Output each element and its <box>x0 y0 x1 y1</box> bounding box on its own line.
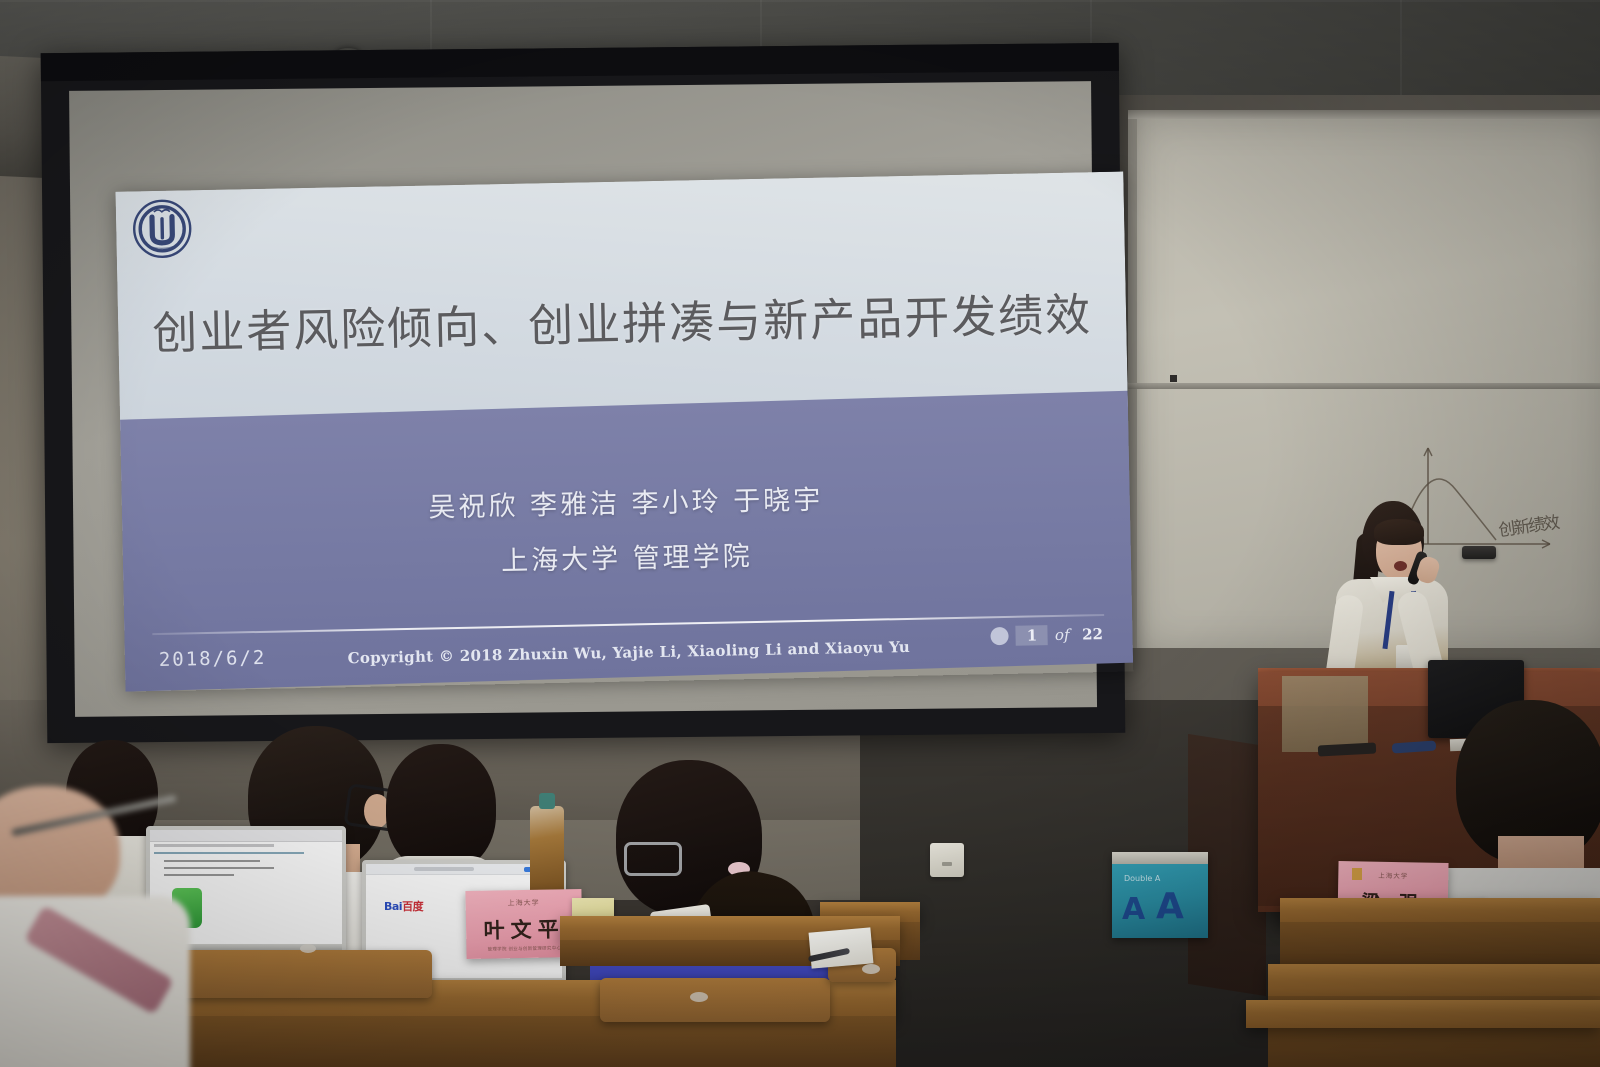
shanghai-university-emblem-icon <box>130 196 195 261</box>
current-page: 1 <box>1016 625 1048 646</box>
lecture-room-photo: 创新绩效 创业者风险倾向、创业拼凑与新产品开发绩效 吴祝欣 李雅洁 李小玲 于晓… <box>0 0 1600 1067</box>
placard-seal-icon <box>1352 868 1362 880</box>
whiteboard-magnet <box>1170 375 1177 382</box>
page-bullet-icon <box>991 627 1009 645</box>
whiteboard-mid-rail <box>1128 383 1600 389</box>
cardboard-box: A A Double A <box>1112 852 1208 938</box>
eyeglasses-icon <box>624 842 682 876</box>
eyeglasses-held-icon <box>10 800 180 840</box>
audience-head <box>386 744 496 872</box>
desk-grommet <box>862 964 880 974</box>
placard-org: 上海大学 <box>466 897 582 909</box>
desk-grommet <box>300 944 316 953</box>
desk-panel <box>1280 922 1600 964</box>
screen-surface: 创业者风险倾向、创业拼凑与新产品开发绩效 吴祝欣 李雅洁 李小玲 于晓宇 上海大… <box>69 81 1097 717</box>
slide-page-indicator: 1 of 22 <box>991 624 1109 646</box>
power-outlet[interactable] <box>930 843 964 877</box>
whiteboard-eraser <box>1462 546 1496 559</box>
desk-grommet <box>690 992 708 1002</box>
whiteboard-top-rail <box>1128 110 1600 119</box>
page-separator: of <box>1055 626 1070 644</box>
projector-screen: 创业者风险倾向、创业拼凑与新产品开发绩效 吴祝欣 李雅洁 李小玲 于晓宇 上海大… <box>41 43 1126 743</box>
desk-panel <box>136 1016 896 1067</box>
lectern-board <box>1282 676 1368 752</box>
chair-back <box>600 978 830 1022</box>
total-pages: 22 <box>1076 624 1108 645</box>
presenter-bangs <box>1374 519 1424 545</box>
note-paper <box>809 927 874 968</box>
desk-front-right <box>1268 964 1600 1000</box>
baidu-logo-icon: Bai百度 <box>384 898 423 914</box>
presenter-mouth <box>1394 561 1407 571</box>
desk-foreground-right <box>1246 1000 1600 1028</box>
projected-slide: 创业者风险倾向、创业拼凑与新产品开发绩效 吴祝欣 李雅洁 李小玲 于晓宇 上海大… <box>115 172 1133 692</box>
